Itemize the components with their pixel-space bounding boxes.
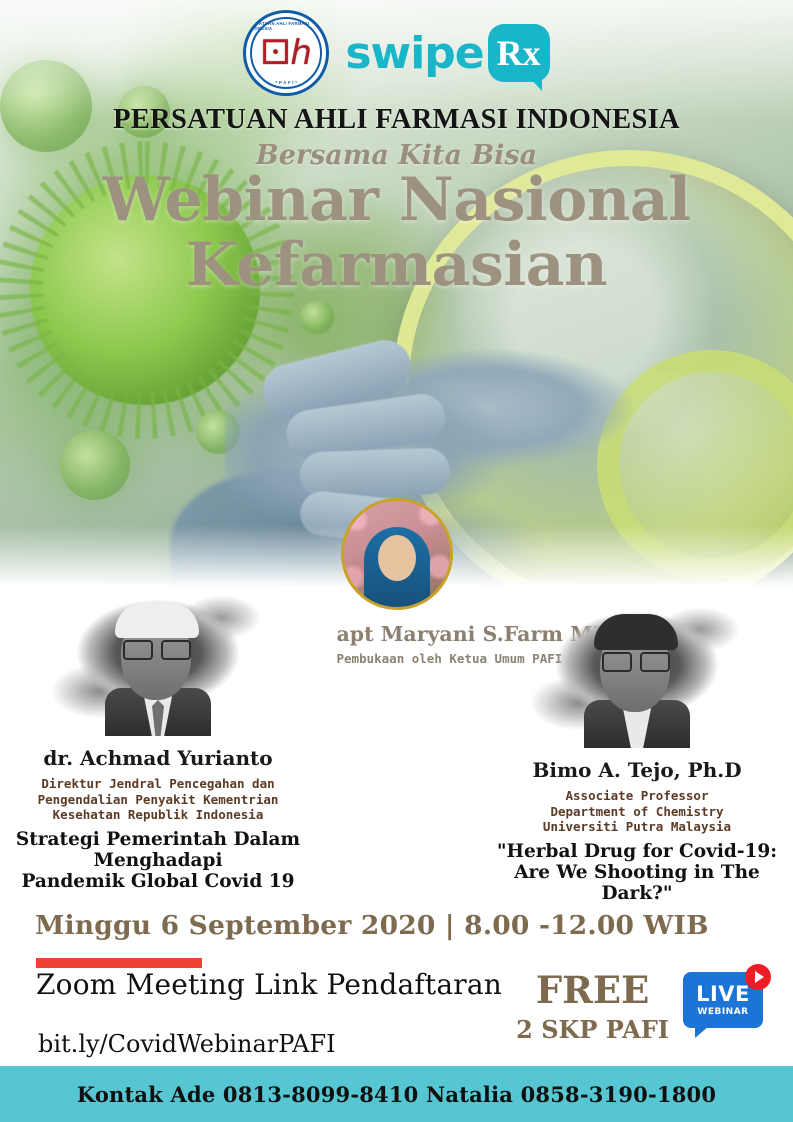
avatar-face: [378, 535, 416, 581]
accent-bar: [36, 958, 202, 968]
pafi-logo-ring-top-text: PERSATUAN AHLI FARMASI INDONESIA: [246, 21, 326, 31]
live-label: LIVE: [696, 984, 750, 1005]
speaker-affiliation-line: Associate Professor: [487, 788, 787, 804]
glasses-icon: [602, 652, 670, 668]
credits-label: 2 SKP PAFI: [516, 1015, 669, 1044]
virus-particle-icon: [60, 430, 130, 500]
pafi-logo-ring-bottom-text: * P A F I *: [276, 80, 298, 85]
speaker-name: apt Maryani S.Farm MKM: [337, 622, 457, 646]
speaker-topic: Strategi Pemerintah Dalam Menghadapi Pan…: [8, 829, 308, 892]
pafi-logo: PERSATUAN AHLI FARMASI INDONESIA ⚀ℎ * P …: [243, 10, 329, 96]
event-datetime: Minggu 6 September 2020 | 8.00 -12.00 WI…: [35, 910, 709, 941]
speaker-affiliation-line: Department of Chemistry: [487, 804, 787, 820]
platform-line: Zoom Meeting Link Pendaftaran: [36, 968, 502, 1001]
page-title: Webinar Nasional Kefarmasian: [0, 168, 793, 298]
speaker-affiliation: Associate Professor Department of Chemis…: [487, 788, 787, 835]
title-line-1: Webinar Nasional: [102, 165, 690, 235]
speaker-center: apt Maryani S.Farm MKM Pembukaan oleh Ke…: [337, 498, 457, 666]
live-webinar-badge: LIVE WEBINAR: [683, 972, 769, 1042]
youtube-play-icon: [745, 964, 771, 990]
swiperx-rx-badge: Rx: [488, 24, 550, 82]
logo-row: PERSATUAN AHLI FARMASI INDONESIA ⚀ℎ * P …: [0, 10, 793, 96]
speaker-topic-line: "Herbal Drug for Covid-19:: [487, 841, 787, 862]
avatar: [53, 576, 263, 736]
speaker-topic: "Herbal Drug for Covid-19: Are We Shooti…: [487, 841, 787, 904]
glasses-icon: [123, 640, 191, 656]
speaker-name: Bimo A. Tejo, Ph.D: [487, 758, 787, 782]
speaker-left: dr. Achmad Yurianto Direktur Jendral Pen…: [8, 576, 308, 892]
speaker-affiliation-line: Universiti Putra Malaysia: [487, 819, 787, 835]
speaker-affiliation-line: Kesehatan Republik Indonesia: [8, 807, 308, 823]
contact-info: Kontak Ade 0813-8099-8410 Natalia 0858-3…: [77, 1082, 716, 1107]
speaker-affiliation-line: Direktur Jendral Pencegahan dan: [8, 776, 308, 792]
price-label: FREE: [516, 972, 669, 1009]
speaker-topic-line: Strategi Pemerintah Dalam Menghadapi: [8, 829, 308, 871]
price-block: FREE 2 SKP PAFI: [516, 972, 669, 1044]
registration-link[interactable]: bit.ly/CovidWebinarPAFI: [38, 1030, 336, 1058]
speaker-affiliation: Direktur Jendral Pencegahan dan Pengenda…: [8, 776, 308, 823]
footer: Kontak Ade 0813-8099-8410 Natalia 0858-3…: [0, 1066, 793, 1122]
swiperx-wordmark: swipe: [345, 28, 483, 79]
title-line-2: Kefarmasian: [0, 233, 793, 298]
speaker-right: Bimo A. Tejo, Ph.D Associate Professor D…: [487, 588, 787, 904]
swiperx-logo: swipe Rx: [345, 24, 549, 82]
avatar-hair: [115, 602, 199, 638]
avatar: [532, 588, 742, 748]
speaker-role: Pembukaan oleh Ketua Umum PAFI Pusat: [337, 651, 457, 666]
speaker-topic-line: Pandemik Global Covid 19: [8, 871, 308, 892]
virus-particle-icon: [300, 300, 334, 334]
swiperx-rx-text: Rx: [497, 32, 541, 74]
webinar-label: WEBINAR: [697, 1008, 748, 1017]
organization-title: PERSATUAN AHLI FARMASI INDONESIA: [0, 104, 793, 136]
webinar-poster: PERSATUAN AHLI FARMASI INDONESIA ⚀ℎ * P …: [0, 0, 793, 1122]
speaker-affiliation-line: Pengendalian Penyakit Kementrian: [8, 792, 308, 808]
avatar: [341, 498, 453, 610]
avatar-hair: [594, 614, 678, 650]
speaker-name: dr. Achmad Yurianto: [8, 746, 308, 770]
speaker-topic-line: Are We Shooting in The Dark?": [487, 862, 787, 904]
